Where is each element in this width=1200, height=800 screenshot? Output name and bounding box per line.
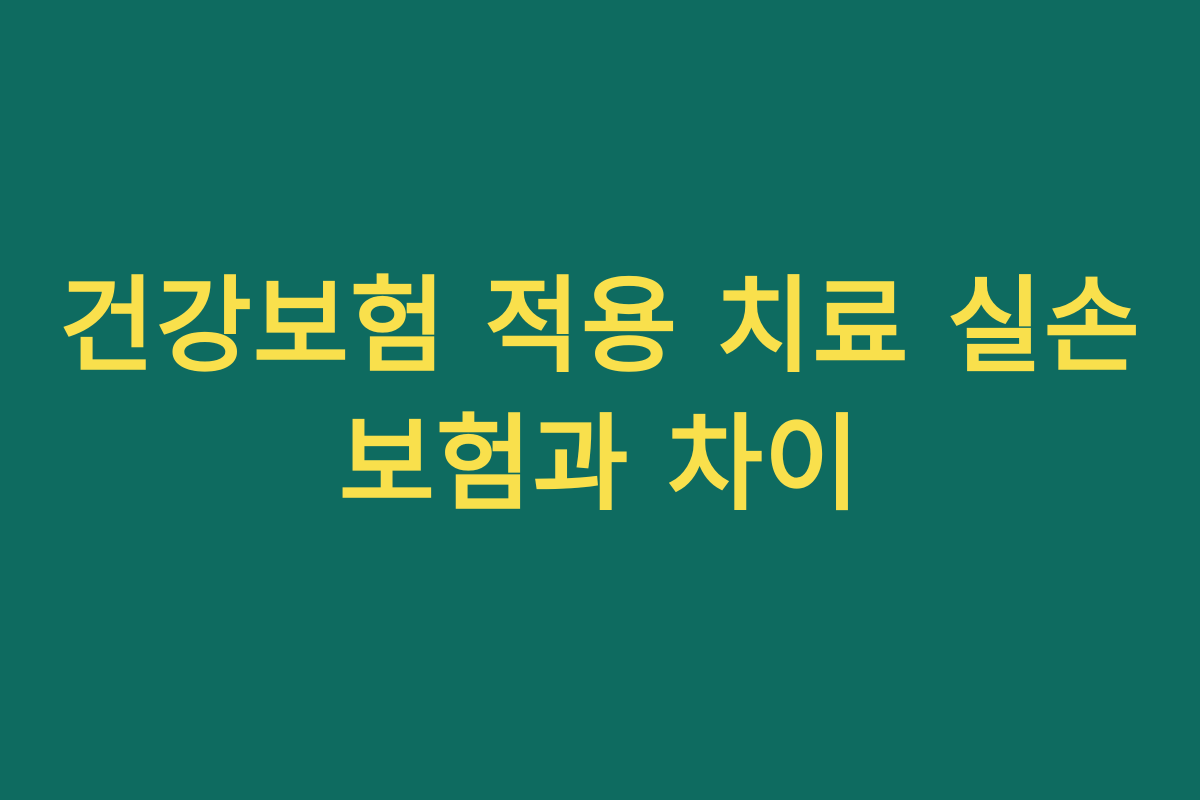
page-title: 건강보험 적용 치료 실손 보험과 차이 [70, 257, 1130, 534]
title-banner: 건강보험 적용 치료 실손 보험과 차이 [0, 0, 1200, 800]
title-line-2: 보험과 차이 [339, 395, 861, 533]
title-line-1: 건강보험 적용 치료 실손 [59, 257, 1141, 395]
